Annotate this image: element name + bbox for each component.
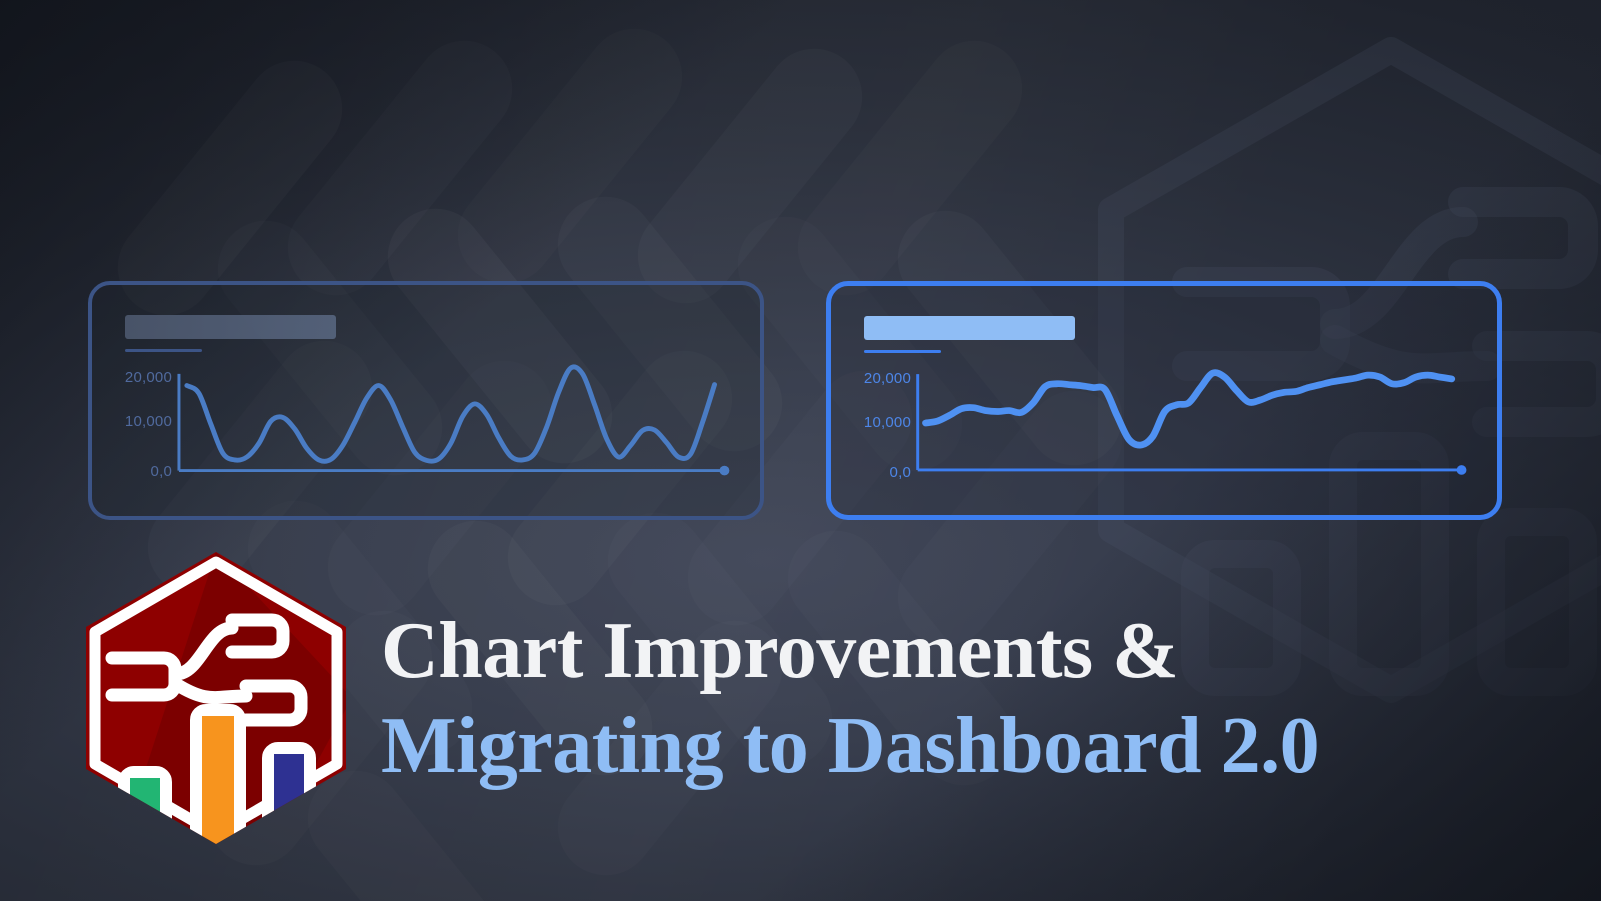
- promo-banner: 20,000 10,000 0,0 20,000 10,000 0,0: [0, 0, 1601, 901]
- dashboard-2-panel[interactable]: 20,000 10,000 0,0: [826, 281, 1502, 520]
- chart-axes: [918, 374, 1467, 475]
- zabbix-hexagon-logo: [80, 548, 352, 848]
- bar-orange: [202, 716, 234, 848]
- legacy-series-line: [187, 367, 715, 461]
- legacy-dashboard-panel[interactable]: 20,000 10,000 0,0: [88, 281, 764, 520]
- headline-line-1: Chart Improvements &: [381, 604, 1511, 699]
- bar-blue: [274, 754, 304, 848]
- headline-line-2: Migrating to Dashboard 2.0: [381, 699, 1511, 794]
- legacy-line-chart: [92, 285, 760, 516]
- headline-block: Chart Improvements & Migrating to Dashbo…: [381, 604, 1511, 794]
- dashboard-2-line-chart: [831, 286, 1497, 515]
- dashboard-2-series-line: [926, 373, 1452, 446]
- chart-axes: [179, 374, 729, 475]
- bar-green: [130, 778, 160, 848]
